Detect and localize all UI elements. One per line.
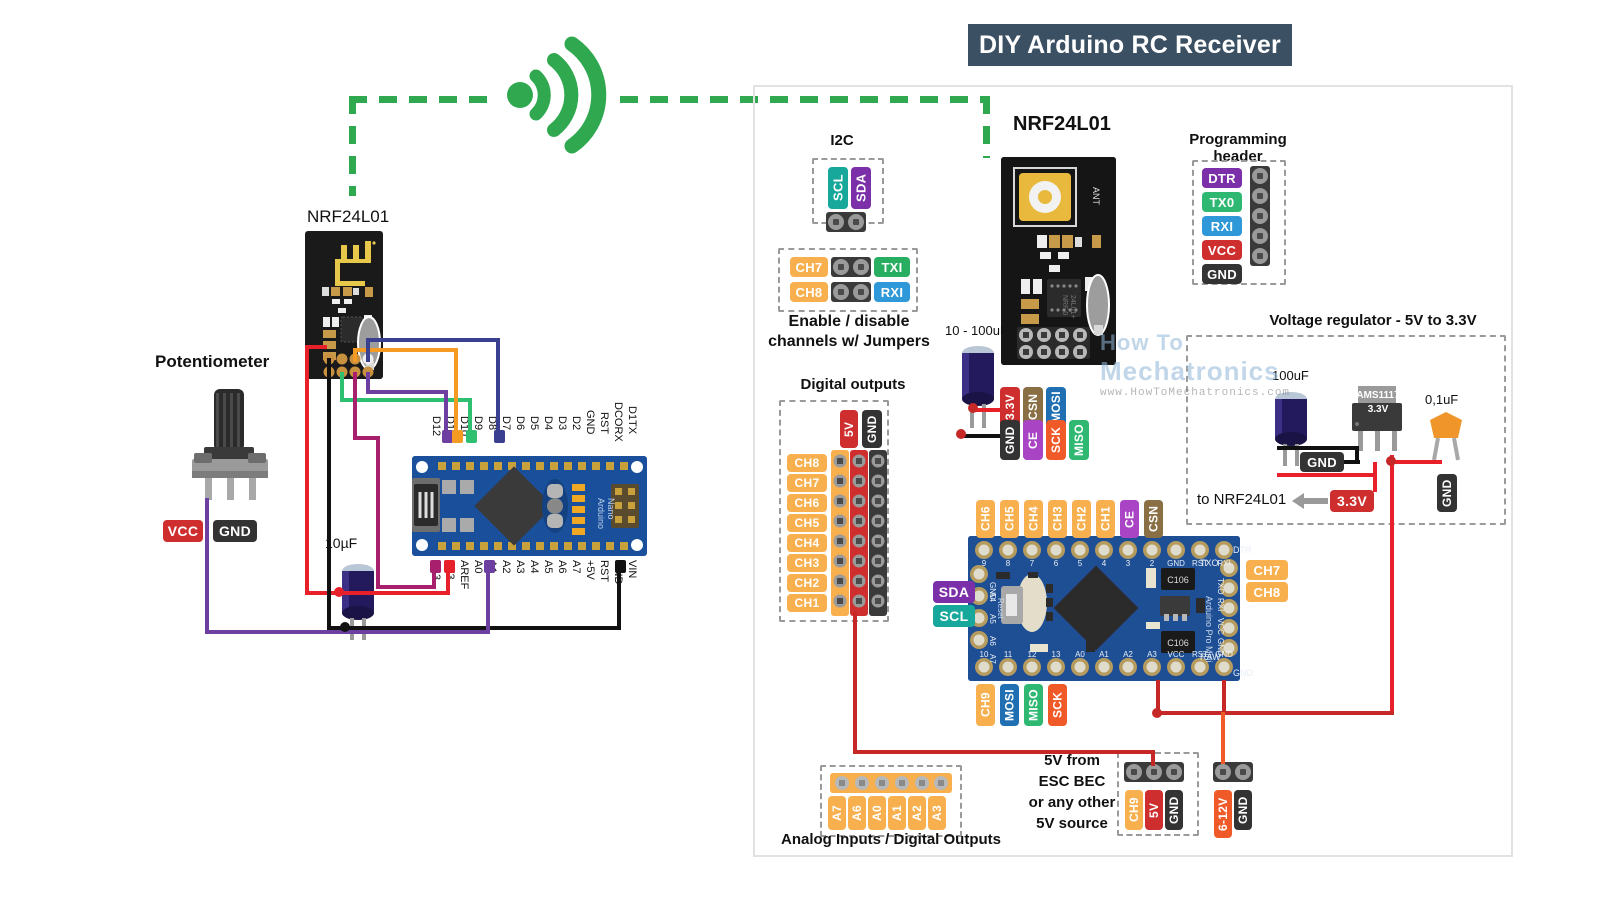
terminal-d13 <box>430 560 441 573</box>
programming-header-pin-5[interactable] <box>1252 248 1268 264</box>
analog-pin-a7: A7 <box>828 796 846 830</box>
svg-text:9: 9 <box>982 559 987 568</box>
wire-tx-pur-h <box>366 390 448 394</box>
programming-header-strip[interactable] <box>1250 166 1270 266</box>
svg-text:A2: A2 <box>1123 650 1133 659</box>
tx-nrf-module <box>305 231 383 379</box>
wire-tx-nvy-v1 <box>366 340 370 362</box>
potentiometer <box>172 385 287 505</box>
i2c-header-pin-1[interactable] <box>828 214 844 230</box>
rx-nrf-ant-silk: ANT <box>1091 187 1101 206</box>
potentiometer-label: Potentiometer <box>155 352 269 372</box>
promini-label-scl: SCL <box>933 605 975 627</box>
nano-pin-rst: RST <box>598 412 610 434</box>
power-5v-label-gnd: GND <box>1165 790 1183 830</box>
promini-label-ch4: CH4 <box>1024 500 1043 538</box>
vreg-gnd-label-1: GND <box>1300 452 1344 472</box>
analog-pin-a3: A3 <box>928 796 946 830</box>
programming-pin-rxi: RXI <box>1202 216 1242 236</box>
i2c-header-pin-2[interactable] <box>848 214 864 230</box>
svg-text:NRF 0: NRF 0 <box>1061 295 1068 315</box>
nano-pin-a4: A4 <box>528 560 540 573</box>
programming-pin-dtr: DTR <box>1202 168 1242 188</box>
svg-text:24L01+: 24L01+ <box>1069 295 1076 319</box>
digital-output-ch3: CH3 <box>787 554 827 572</box>
svg-text:A5: A5 <box>988 614 997 624</box>
analog-inputs-header[interactable] <box>830 773 952 793</box>
jumper-header-row1[interactable] <box>831 257 871 277</box>
ams1117-silk-line1: AMS1117 <box>1352 390 1404 401</box>
wire-tx-nvy-v2 <box>496 338 500 436</box>
rx-nrf-pin-ce: CE <box>1023 420 1043 460</box>
svg-text:GND: GND <box>1167 559 1185 568</box>
svg-text:A6: A6 <box>988 636 997 646</box>
pot-pin-vcc: VCC <box>163 520 203 542</box>
nano-pin-vin: VIN <box>626 560 638 578</box>
svg-text:12: 12 <box>1028 650 1037 659</box>
wire-tx-mag-v2 <box>376 436 380 589</box>
arduino-nano-board: Arduino Nano <box>412 456 647 556</box>
promini-label-csn: CSN <box>1144 500 1163 538</box>
terminal-d9 <box>494 430 505 443</box>
vreg-output-capacitor <box>1424 408 1468 462</box>
wire-vreg-to-raw <box>1160 711 1394 715</box>
svg-text:VCC: VCC <box>1216 618 1225 635</box>
nano-pin-a5: A5 <box>542 560 554 573</box>
jumper-label-ch8: CH8 <box>790 282 828 302</box>
wire-nrf-gnd <box>960 434 1000 438</box>
voltage-regulator-title: Voltage regulator - 5V to 3.3V <box>1238 312 1508 329</box>
svg-text:Nano: Nano <box>606 498 616 520</box>
wire-5v-header-v <box>1151 750 1155 766</box>
wire-digout-5v-h <box>853 750 1155 754</box>
wifi-signal-icon <box>498 32 608 158</box>
svg-text:2: 2 <box>1150 559 1155 568</box>
promini-label-ch8: CH8 <box>1246 582 1288 602</box>
junction-nrf-gnd <box>956 429 966 439</box>
wire-tx-pur-v1 <box>366 372 370 392</box>
svg-text:Arduino: Arduino <box>596 498 606 529</box>
wire-tx-gnd-v2 <box>327 570 331 628</box>
power-5v-pin-gnd[interactable] <box>1166 764 1182 780</box>
jumper-pin-ch7-a[interactable] <box>833 259 849 275</box>
promini-label-ch1: CH1 <box>1096 500 1115 538</box>
power-5v-label-ch9: CH9 <box>1125 790 1143 830</box>
rx-nrf-pin-gnd: GND <box>1000 420 1020 460</box>
svg-text:A1: A1 <box>1099 650 1109 659</box>
analog-pin-a0: A0 <box>868 796 886 830</box>
promini-label-ce: CE <box>1120 500 1139 538</box>
wire-vreg-cap-h <box>1390 460 1442 464</box>
svg-text:5: 5 <box>1078 559 1083 568</box>
nano-pin-d7: D7 <box>500 416 512 430</box>
power-raw-header[interactable] <box>1213 762 1253 782</box>
wire-vreg-out-v <box>1373 462 1377 492</box>
nano-pin-a6: A6 <box>556 560 568 573</box>
digital-output-ch7: CH7 <box>787 474 827 492</box>
nano-pin-d3: D3 <box>556 416 568 430</box>
vreg-gnd-label-2: GND <box>1437 474 1457 512</box>
svg-text:7: 7 <box>1030 559 1035 568</box>
wire-tx-vcc-h1 <box>305 345 327 349</box>
digital-outputs-header-block[interactable] <box>831 450 887 616</box>
svg-text:A0: A0 <box>1075 650 1085 659</box>
power-5v-pin-5v[interactable] <box>1146 764 1162 780</box>
power-5v-pin-ch9[interactable] <box>1126 764 1142 780</box>
wire-tx-gnd-v3 <box>617 570 621 628</box>
jumper-pin-ch8-b[interactable] <box>853 284 869 300</box>
nano-pin-d6: D6 <box>514 416 526 430</box>
jumper-label-rxi: RXI <box>874 282 910 302</box>
wire-raw-promini-v <box>1222 680 1226 712</box>
page-title: DIY Arduino RC Receiver <box>968 24 1292 66</box>
analog-pin-a2: A2 <box>908 796 926 830</box>
analog-pin-a1: A1 <box>888 796 906 830</box>
power-note-line4: 5V source <box>1012 815 1132 832</box>
analog-pin-a6: A6 <box>848 796 866 830</box>
digital-output-ch1: CH1 <box>787 594 827 612</box>
promini-label-ch3: CH3 <box>1048 500 1067 538</box>
svg-text:VCC: VCC <box>1168 650 1185 659</box>
nano-pin-dcorx: DCORX <box>612 402 624 442</box>
rf-path-segment-left-horizontal <box>349 96 499 103</box>
watermark-url: www.HowToMechatronics.com <box>1100 387 1320 399</box>
promini-label-sck: SCK <box>1048 684 1067 726</box>
digital-outputs-col-gnd: GND <box>862 410 882 448</box>
promini-label-ch9: CH9 <box>976 684 995 726</box>
promini-pin-txo-top: TXO <box>1200 558 1219 568</box>
promini-pin-gnd-corner: GND <box>1233 668 1253 678</box>
promini-label-miso: MISO <box>1024 684 1043 726</box>
rx-nrf-title: NRF24L01 <box>1013 113 1111 136</box>
nano-pin-d9: D9 <box>472 416 484 430</box>
rx-nrf-capacitor <box>955 342 1001 428</box>
rx-nrf-cap-label: 10 - 100uF <box>945 323 1008 338</box>
power-note-line1: 5V from <box>1012 752 1132 769</box>
rx-nrf-module: ANT NRF 0 24L01+ <box>1001 157 1116 365</box>
i2c-title: I2C <box>812 132 872 149</box>
jumper-caption-line2: channels w/ Jumpers <box>758 333 940 351</box>
wire-tx-pot-v <box>205 498 209 634</box>
digital-outputs-title: Digital outputs <box>778 376 928 393</box>
vreg-cap-out-label: 0,1uF <box>1425 392 1458 407</box>
nano-pin-a2: A2 <box>500 560 512 573</box>
ams1117-silk-line2: 3.3V <box>1352 404 1404 415</box>
terminal-a0 <box>484 560 495 573</box>
nano-pin-a0: A0 <box>472 560 484 573</box>
pot-pin-gnd: GND <box>213 520 257 542</box>
promini-label-ch2: CH2 <box>1072 500 1091 538</box>
diagram-canvas: DIY Arduino RC Receiver NRF24L01 <box>0 0 1600 900</box>
svg-text:4: 4 <box>1102 559 1107 568</box>
watermark-line1: How To <box>1100 330 1320 356</box>
nano-pin-d1tx: D1TX <box>626 406 638 434</box>
jumper-pin-ch7-b[interactable] <box>853 259 869 275</box>
wire-tx-vcc-v <box>305 345 309 595</box>
wire-tx-green-v1 <box>340 372 344 400</box>
nano-pin-gnd: GND <box>584 410 596 434</box>
rx-nrf-pin-miso: MISO <box>1069 420 1089 460</box>
svg-text:A7: A7 <box>988 654 997 664</box>
programming-header-pin-3[interactable] <box>1252 208 1268 224</box>
power-raw-label-voltage: 6-12V <box>1214 790 1232 838</box>
programming-pin-vcc: VCC <box>1202 240 1242 260</box>
digital-output-ch4: CH4 <box>787 534 827 552</box>
i2c-pin-sda: SDA <box>851 167 871 209</box>
svg-text:A3: A3 <box>1147 650 1157 659</box>
i2c-pin-scl: SCL <box>828 167 848 209</box>
promini-label-sda: SDA <box>933 581 975 603</box>
svg-text:RXI: RXI <box>1217 559 1230 568</box>
promini-label-mosi: MOSI <box>1000 684 1019 726</box>
svg-text:6: 6 <box>1054 559 1059 568</box>
wire-vreg-main-v <box>1390 455 1394 715</box>
terminal-d10 <box>466 430 477 443</box>
svg-text:10: 10 <box>980 650 989 659</box>
nano-pin-d2: D2 <box>570 416 582 430</box>
wire-tx-gnd-v1 <box>327 358 331 570</box>
power-5v-label-5v: 5V <box>1145 790 1163 830</box>
terminal-3v3 <box>444 560 455 573</box>
wire-tx-green-h <box>340 398 472 402</box>
nano-pin-rst2: RST <box>598 560 610 582</box>
power-note-line2: ESC BEC <box>1012 773 1132 790</box>
svg-text:11: 11 <box>1004 650 1013 659</box>
junction-vreg-out <box>1386 456 1396 466</box>
terminal-d11 <box>452 430 463 443</box>
nano-pin-d4: D4 <box>542 416 554 430</box>
svg-text:13: 13 <box>1052 650 1061 659</box>
nano-pin-d12: D12 <box>430 416 442 436</box>
watermark: How To Mechatronics www.HowToMechatronic… <box>1100 330 1320 410</box>
svg-text:C106: C106 <box>1167 575 1189 585</box>
programming-pin-gnd: GND <box>1202 264 1242 284</box>
nano-pin-a7: A7 <box>570 560 582 573</box>
digital-output-ch5: CH5 <box>787 514 827 532</box>
promini-label-ch7: CH7 <box>1246 560 1288 580</box>
wire-tx-mag-h2 <box>376 585 432 589</box>
promini-label-ch6: CH6 <box>976 500 995 538</box>
programming-pin-tx0: TX0 <box>1202 192 1242 212</box>
promini-pin-dtr: DTR <box>1233 545 1252 555</box>
svg-text:3: 3 <box>1126 559 1131 568</box>
junction-gnd-cap <box>340 622 350 632</box>
power-raw-label-gnd: GND <box>1234 790 1252 830</box>
svg-text:8: 8 <box>1006 559 1011 568</box>
power-raw-pin-gnd[interactable] <box>1235 764 1251 780</box>
i2c-header[interactable] <box>826 212 866 232</box>
jumper-caption-line1: Enable / disable <box>768 313 930 331</box>
nano-pin-a3: A3 <box>514 560 526 573</box>
junction-vcc-5v <box>1152 708 1162 718</box>
digital-output-ch8: CH8 <box>787 454 827 472</box>
watermark-line2: Mechatronics <box>1100 356 1320 387</box>
promini-label-ch5: CH5 <box>1000 500 1019 538</box>
nano-pin-d5: D5 <box>528 416 540 430</box>
power-raw-pin-6-12v[interactable] <box>1215 764 1231 780</box>
programming-header-pin-2[interactable] <box>1252 188 1268 204</box>
wire-vreg-gnd-h2 <box>1344 460 1360 464</box>
wire-tx-3v3-v <box>446 570 450 595</box>
jumper-label-txi: TXI <box>874 257 910 277</box>
digital-output-ch2: CH2 <box>787 574 827 592</box>
rx-nrf-pin-sck: SCK <box>1046 420 1066 460</box>
vreg-output-arrow-icon <box>1292 492 1328 510</box>
svg-text:TXO: TXO <box>1216 578 1225 594</box>
nano-pin-aref: AREF <box>458 560 470 589</box>
jumper-header-row2[interactable] <box>831 282 871 302</box>
wire-vreg-out-h <box>1277 473 1377 477</box>
analog-inputs-caption: Analog Inputs / Digital Outputs <box>778 831 1004 848</box>
wire-tx-org-v2 <box>454 348 458 436</box>
promini-pin-raw: RAW <box>1200 652 1221 662</box>
programming-header-pin-4[interactable] <box>1252 228 1268 244</box>
svg-text:RXI: RXI <box>1216 598 1225 611</box>
wire-tx-mag-v1 <box>353 372 357 438</box>
vreg-output-label: 3.3V <box>1330 490 1374 512</box>
junction-nrf-3v3 <box>968 403 978 413</box>
tx-nrf-title: NRF24L01 <box>307 207 389 227</box>
nano-pin-5v: +5V <box>584 560 596 580</box>
svg-text:C106: C106 <box>1167 638 1189 648</box>
wire-raw-input-v <box>1221 712 1225 764</box>
junction-vcc-cap <box>334 587 344 597</box>
svg-text:A4: A4 <box>988 592 997 602</box>
wire-vreg-gnd-h <box>1277 446 1357 450</box>
jumper-label-ch7: CH7 <box>790 257 828 277</box>
terminal-gnd-nano <box>615 560 626 573</box>
programming-header-pin-1[interactable] <box>1252 168 1268 184</box>
digital-output-ch6: CH6 <box>787 494 827 512</box>
rf-path-segment-left-vertical <box>349 96 356 196</box>
wire-digout-5v-v <box>853 612 857 752</box>
digital-outputs-col-5v: 5V <box>840 410 858 448</box>
wire-tx-pot-v2 <box>486 570 490 632</box>
wire-tx-nvy-h <box>366 338 500 342</box>
jumper-pin-ch8-a[interactable] <box>833 284 849 300</box>
